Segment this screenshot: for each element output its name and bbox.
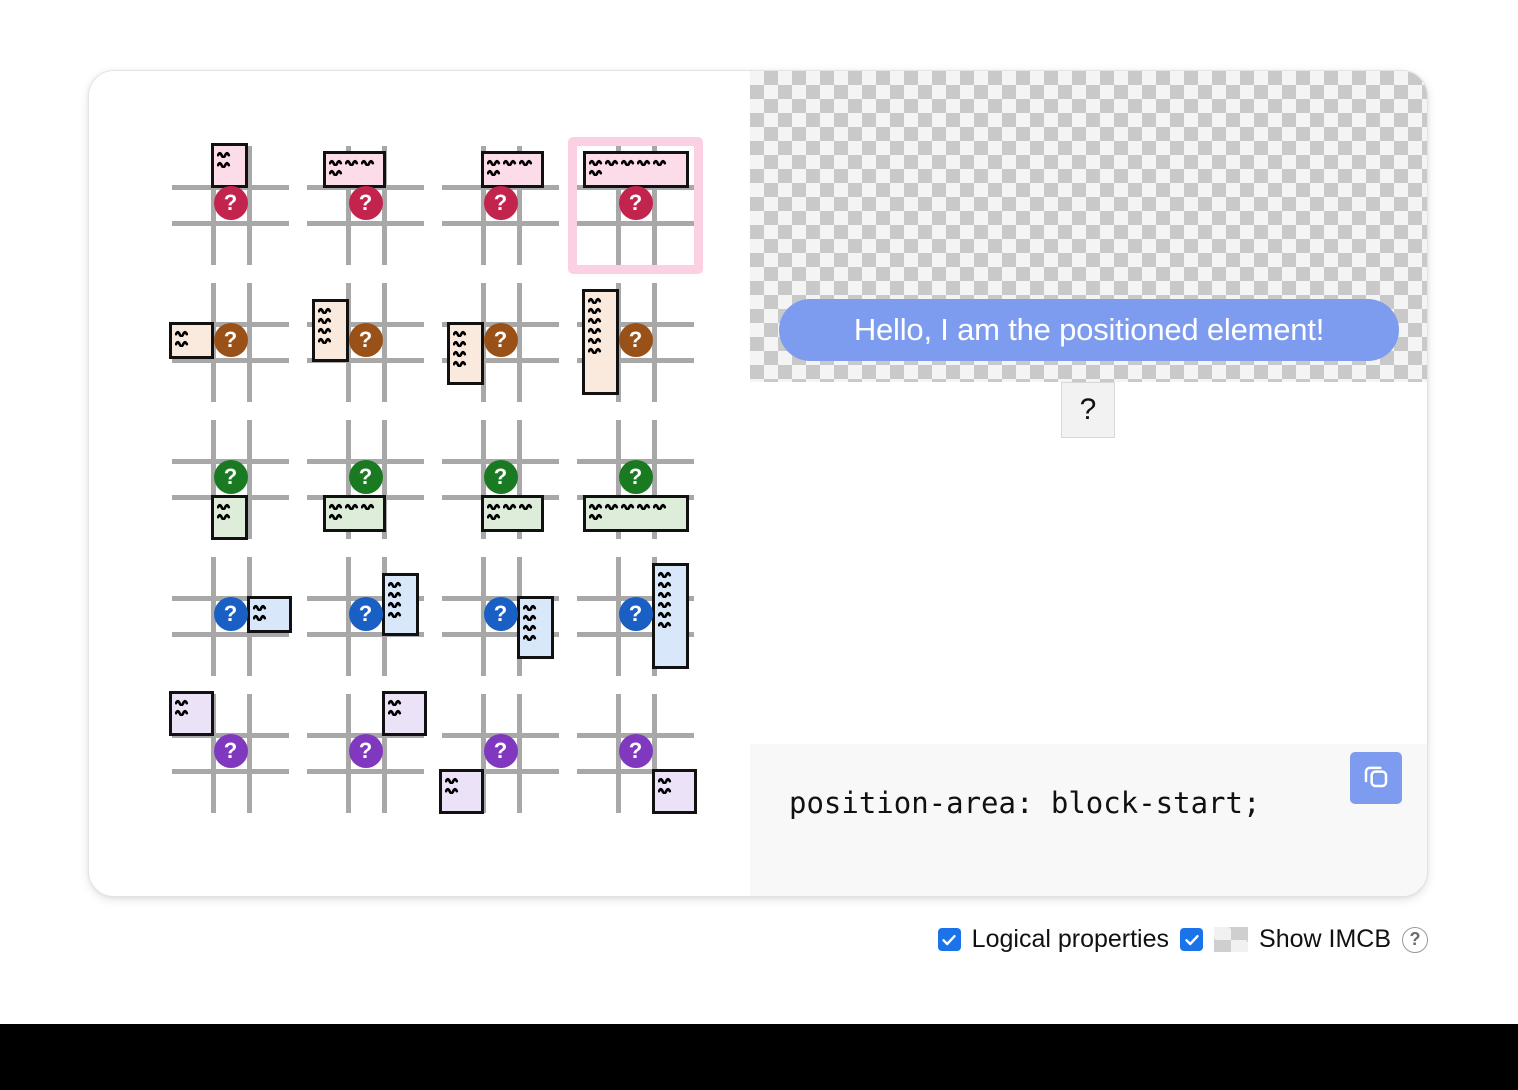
squiggle-line <box>388 590 403 598</box>
squiggle-line <box>329 512 344 520</box>
position-area-diagram: ? <box>307 694 424 813</box>
logical-properties-label[interactable]: Logical properties <box>972 925 1169 954</box>
squiggle-line <box>318 306 333 314</box>
squiggle-line <box>658 620 673 628</box>
anchor-question-marker: ? <box>484 597 518 631</box>
position-area-option[interactable]: ? <box>298 274 433 411</box>
grid-rail <box>307 221 424 226</box>
anchor-question-marker: ? <box>214 734 248 768</box>
squiggle-line <box>658 610 673 618</box>
show-imcb-label[interactable]: Show IMCB <box>1259 925 1391 954</box>
squiggle-line <box>658 600 673 608</box>
squiggle-line <box>523 633 538 641</box>
anchor-question-marker: ? <box>349 186 383 220</box>
position-area-box <box>481 151 544 188</box>
position-area-diagram: ? <box>172 694 289 813</box>
squiggle-line <box>588 326 603 334</box>
preview-panel: Hello, I am the positioned element! ? po… <box>750 71 1427 896</box>
squiggle-line <box>217 160 232 168</box>
help-question-icon[interactable]: ? <box>1402 927 1428 953</box>
anchor-question-marker: ? <box>349 323 383 357</box>
squiggle-line <box>487 168 502 176</box>
squiggle-line <box>329 158 344 166</box>
position-area-option[interactable]: ? <box>433 685 568 822</box>
grid-rail <box>172 221 289 226</box>
position-area-diagram: ? <box>442 694 559 813</box>
anchor-question-marker: ? <box>484 734 518 768</box>
anchor-question-marker: ? <box>484 186 518 220</box>
position-area-option[interactable]: ? <box>298 137 433 274</box>
anchor-question-marker: ? <box>214 186 248 220</box>
grid-rail <box>382 283 387 402</box>
squiggle-line <box>487 158 502 166</box>
anchor-question-marker: ? <box>484 323 518 357</box>
squiggle-line <box>589 168 604 176</box>
copy-icon <box>1361 761 1391 796</box>
anchor-question-marker: ? <box>484 460 518 494</box>
position-area-box <box>169 691 214 736</box>
position-area-diagram: ? <box>172 557 289 676</box>
squiggle-line <box>588 336 603 344</box>
position-area-box <box>439 769 484 814</box>
squiggle-line <box>519 502 534 510</box>
position-area-diagram: ? <box>307 557 424 676</box>
anchor-question-marker: ? <box>619 186 653 220</box>
squiggle-line <box>175 339 190 347</box>
squiggle-line <box>453 349 468 357</box>
squiggle-line <box>621 502 636 510</box>
position-area-option[interactable]: ? <box>163 274 298 411</box>
squiggle-line <box>253 603 268 611</box>
squiggle-line <box>388 580 403 588</box>
squiggle-line <box>345 158 360 166</box>
position-area-option[interactable]: ? <box>298 548 433 685</box>
position-area-diagram: ? <box>442 146 559 265</box>
anchor-question-marker: ? <box>349 734 383 768</box>
position-area-option[interactable]: ? <box>433 137 568 274</box>
squiggle-line <box>318 336 333 344</box>
squiggle-line <box>589 512 604 520</box>
squiggle-line <box>388 698 403 706</box>
position-area-diagram: ? <box>442 420 559 539</box>
squiggle-line <box>605 158 620 166</box>
squiggle-line <box>361 158 376 166</box>
anchor-question-marker: ? <box>214 460 248 494</box>
squiggle-line <box>453 329 468 337</box>
position-area-box <box>481 495 544 532</box>
position-area-demo-card: ???????????????????? Hello, I am the pos… <box>88 70 1428 897</box>
position-area-diagram: ? <box>307 146 424 265</box>
position-area-box <box>247 596 292 633</box>
position-area-box <box>382 691 427 736</box>
anchor-question-marker: ? <box>214 597 248 631</box>
squiggle-line <box>621 158 636 166</box>
squiggle-line <box>519 158 534 166</box>
squiggle-line <box>453 359 468 367</box>
position-area-option[interactable]: ? <box>163 137 298 274</box>
squiggle-line <box>653 158 668 166</box>
squiggle-line <box>637 158 652 166</box>
position-area-diagram: ? <box>442 283 559 402</box>
squiggle-line <box>588 316 603 324</box>
squiggle-line <box>588 306 603 314</box>
squiggle-line <box>345 502 360 510</box>
squiggle-line <box>361 502 376 510</box>
position-area-box <box>312 299 349 362</box>
anchor-question-marker: ? <box>619 323 653 357</box>
squiggle-line <box>175 708 190 716</box>
position-area-option[interactable]: ? <box>568 274 703 411</box>
squiggle-line <box>453 339 468 347</box>
anchor-question-marker: ? <box>214 323 248 357</box>
position-area-box <box>211 495 248 540</box>
position-area-box <box>582 289 619 395</box>
position-area-diagram: ? <box>307 283 424 402</box>
position-area-box <box>583 495 689 532</box>
show-imcb-checkbox[interactable] <box>1180 928 1203 951</box>
grid-rail <box>442 221 559 226</box>
grid-rail <box>577 221 694 226</box>
copy-button[interactable] <box>1350 752 1402 804</box>
squiggle-line <box>503 502 518 510</box>
grid-rail <box>652 283 657 402</box>
position-area-box <box>323 151 386 188</box>
grid-rail <box>172 769 289 774</box>
squiggle-line <box>637 502 652 510</box>
anchor-question-marker: ? <box>619 597 653 631</box>
imcb-checkerboard-swatch <box>1214 927 1248 952</box>
squiggle-line <box>487 512 502 520</box>
squiggle-line <box>658 590 673 598</box>
position-area-option[interactable]: ? <box>163 411 298 548</box>
squiggle-line <box>217 502 232 510</box>
anchor-question-marker: ? <box>619 734 653 768</box>
position-area-box <box>382 573 419 636</box>
squiggle-line <box>388 610 403 618</box>
position-area-picker-panel: ???????????????????? <box>89 71 750 896</box>
css-declaration-text: position-area: block-start; <box>789 786 1260 820</box>
position-area-diagram: ? <box>577 557 694 676</box>
position-area-diagram: ? <box>172 146 289 265</box>
squiggle-line <box>217 512 232 520</box>
squiggle-line <box>523 613 538 621</box>
position-area-diagram: ? <box>442 557 559 676</box>
positioned-element: Hello, I am the positioned element! <box>779 299 1399 361</box>
squiggle-line <box>318 326 333 334</box>
position-area-box <box>447 322 484 385</box>
position-area-diagram: ? <box>172 420 289 539</box>
squiggle-line <box>329 502 344 510</box>
position-area-box <box>169 322 214 359</box>
squiggle-line <box>445 786 460 794</box>
squiggle-line <box>653 502 668 510</box>
squiggle-line <box>487 502 502 510</box>
grid-rail <box>517 283 522 402</box>
position-area-option[interactable]: ? <box>433 274 568 411</box>
grid-rail <box>247 283 252 402</box>
position-area-box <box>517 596 554 659</box>
squiggle-line <box>445 776 460 784</box>
anchor-element[interactable]: ? <box>1061 382 1115 438</box>
squiggle-line <box>658 580 673 588</box>
position-area-box <box>652 563 689 669</box>
squiggle-line <box>589 158 604 166</box>
anchor-question-marker: ? <box>349 460 383 494</box>
anchor-question-marker: ? <box>349 597 383 631</box>
logical-properties-checkbox[interactable] <box>938 928 961 951</box>
squiggle-line <box>388 600 403 608</box>
squiggle-line <box>175 329 190 337</box>
squiggle-line <box>588 296 603 304</box>
anchor-question-marker: ? <box>619 460 653 494</box>
position-area-option[interactable]: ? <box>163 685 298 822</box>
position-area-box <box>652 769 697 814</box>
squiggle-line <box>523 603 538 611</box>
code-output-panel: position-area: block-start; <box>750 744 1428 896</box>
position-area-box <box>211 143 248 188</box>
position-area-diagram: ? <box>307 420 424 539</box>
squiggle-line <box>589 502 604 510</box>
inset-modified-containing-block: Hello, I am the positioned element! <box>750 71 1428 382</box>
position-area-diagram: ? <box>172 283 289 402</box>
position-area-option[interactable]: ? <box>568 137 703 274</box>
position-area-box <box>323 495 386 532</box>
position-area-diagram: ? <box>577 420 694 539</box>
squiggle-line <box>605 502 620 510</box>
position-area-option[interactable]: ? <box>568 411 703 548</box>
squiggle-line <box>329 168 344 176</box>
position-area-diagram: ? <box>577 283 694 402</box>
squiggle-line <box>658 776 673 784</box>
squiggle-line <box>658 786 673 794</box>
position-area-option[interactable]: ? <box>433 411 568 548</box>
position-area-diagram: ? <box>577 694 694 813</box>
grid-rail <box>247 694 252 813</box>
squiggle-line <box>253 613 268 621</box>
squiggle-line <box>388 708 403 716</box>
squiggle-line <box>523 623 538 631</box>
position-area-box <box>583 151 689 188</box>
squiggle-line <box>503 158 518 166</box>
check-icon <box>941 932 957 948</box>
screen-bottom-band <box>0 1024 1518 1090</box>
position-area-option[interactable]: ? <box>568 548 703 685</box>
squiggle-line <box>588 346 603 354</box>
position-area-option[interactable]: ? <box>568 685 703 822</box>
position-area-option[interactable]: ? <box>298 685 433 822</box>
squiggle-line <box>217 150 232 158</box>
position-area-diagram: ? <box>577 146 694 265</box>
position-area-option[interactable]: ? <box>433 548 568 685</box>
demo-controls: Logical properties Show IMCB ? <box>0 925 1428 954</box>
grid-rail <box>517 694 522 813</box>
grid-rail <box>307 769 424 774</box>
position-area-grid[interactable]: ???????????????????? <box>163 137 703 822</box>
squiggle-line <box>658 570 673 578</box>
check-icon <box>1184 932 1200 948</box>
position-area-option[interactable]: ? <box>298 411 433 548</box>
squiggle-line <box>318 316 333 324</box>
squiggle-line <box>175 698 190 706</box>
position-area-option[interactable]: ? <box>163 548 298 685</box>
